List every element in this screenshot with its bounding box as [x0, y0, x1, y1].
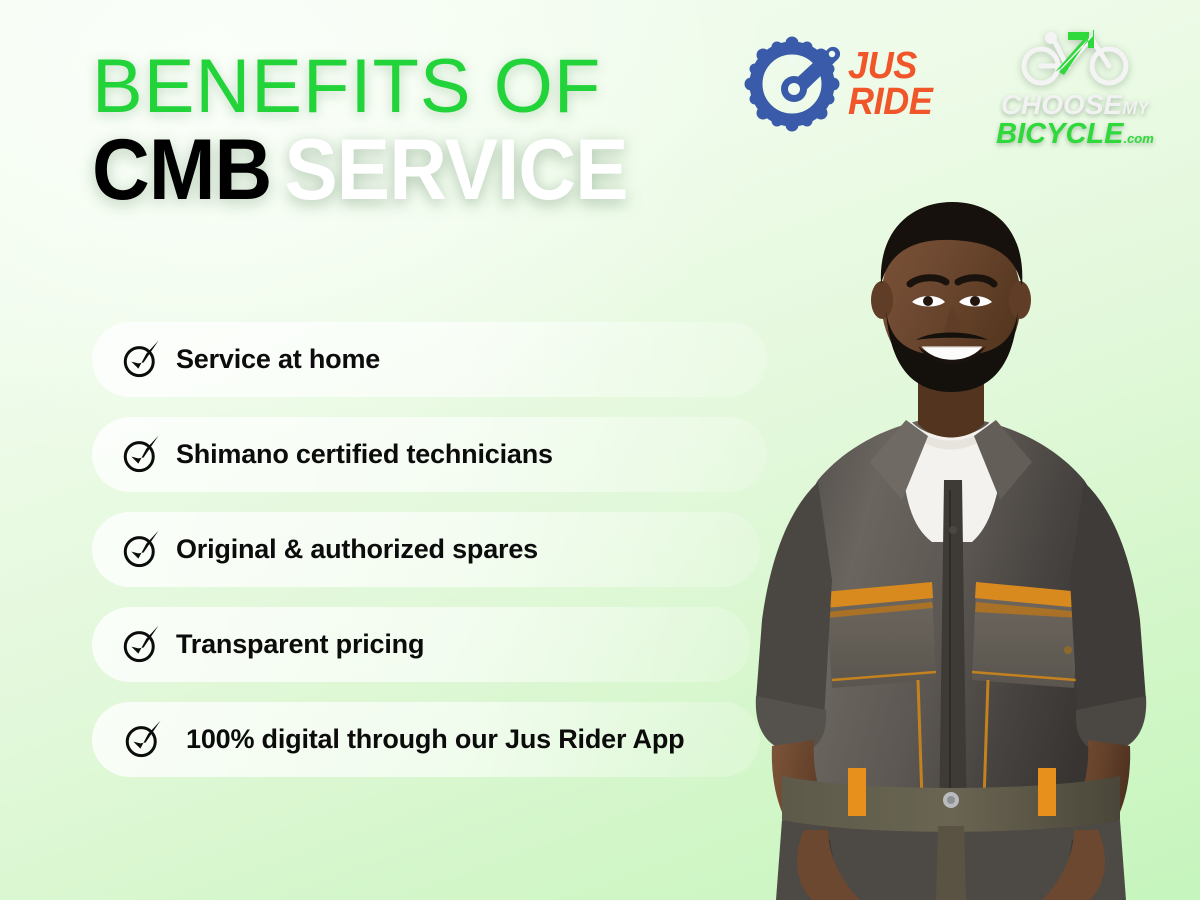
jus-ride-line-2: RIDE [848, 84, 932, 120]
headline-line-1: BENEFITS OF [92, 52, 712, 122]
benefit-label: Shimano certified technicians [176, 439, 553, 470]
check-circle-icon [120, 338, 162, 380]
cmb-line-2: BICYCLE.com [975, 120, 1175, 149]
benefits-list: Service at home Shimano certified techni… [92, 322, 792, 797]
sleeve-right [1070, 482, 1146, 720]
technician-photo [700, 180, 1200, 900]
benefit-pill[interactable]: 100% digital through our Jus Rider App [92, 702, 760, 777]
ear-left [871, 281, 893, 319]
cmb-line-1: CHOOSEMY [975, 91, 1175, 119]
cmb-word-bicycle: BICYCLE [996, 118, 1123, 150]
benefit-pill[interactable]: Service at home [92, 322, 767, 397]
bicycle-chainring-crank-icon [742, 34, 842, 134]
benefit-label: Service at home [176, 344, 380, 375]
logo-choose-my-bicycle[interactable]: CHOOSEMY BICYCLE.com [975, 26, 1175, 154]
benefit-pill[interactable]: Transparent pricing [92, 607, 750, 682]
cmb-word-choose: CHOOSE [1001, 89, 1122, 120]
belt-loop-right [1038, 768, 1056, 816]
jus-ride-wordmark: JUS RIDE [848, 48, 932, 121]
bicycle-with-up-arrow-icon [1015, 26, 1135, 88]
button [949, 526, 957, 534]
benefit-pill[interactable]: Shimano certified technicians [92, 417, 767, 492]
technician-illustration [700, 180, 1200, 900]
sleeve-left [756, 482, 832, 720]
benefit-pill[interactable]: Original & authorized spares [92, 512, 760, 587]
check-circle-icon [120, 528, 162, 570]
ear-right [1009, 281, 1031, 319]
headline-word-cmb: CMB [92, 122, 271, 218]
benefit-label: 100% digital through our Jus Rider App [186, 724, 684, 755]
chest-pocket-left [824, 582, 936, 688]
headline-word-service: SERVICE [284, 122, 627, 218]
check-circle-icon [120, 433, 162, 475]
cmb-word-my: MY [1122, 98, 1149, 118]
poster-canvas: BENEFITS OF CMBSERVICE [0, 0, 1200, 900]
belt-loop-left [848, 768, 866, 816]
check-circle-icon [122, 718, 164, 760]
trouser-placket [936, 826, 966, 900]
check-circle-icon [120, 623, 162, 665]
choose-my-bicycle-wordmark: CHOOSEMY BICYCLE.com [975, 91, 1175, 149]
chest-pocket-right [972, 582, 1082, 688]
headline-block: BENEFITS OF CMBSERVICE [92, 52, 712, 212]
belt-snap-inner [947, 796, 955, 804]
jus-ride-line-1: JUS [848, 48, 932, 84]
logo-jus-ride[interactable]: JUS RIDE [742, 28, 942, 140]
benefit-label: Transparent pricing [176, 629, 424, 660]
benefit-label: Original & authorized spares [176, 534, 538, 565]
cmb-word-dotcom: .com [1123, 131, 1153, 146]
headline-line-2: CMBSERVICE [92, 128, 669, 212]
